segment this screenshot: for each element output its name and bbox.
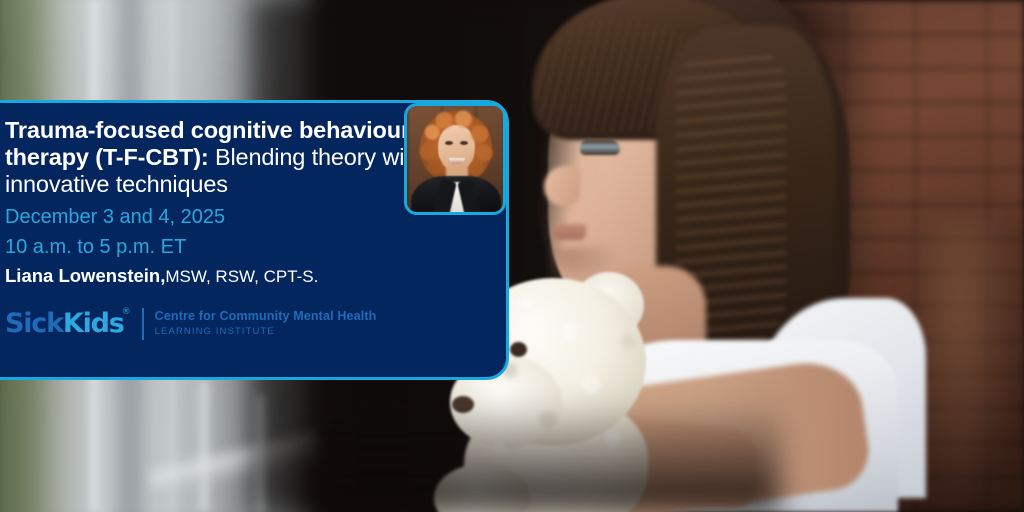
logo-institute-name: LEARNING INSTITUTE xyxy=(155,326,377,338)
presenter-line: Liana Lowenstein,MSW, RSW, CPT-S. xyxy=(5,264,493,289)
window-frame-bar xyxy=(196,380,212,512)
sickkids-wordmark: SickKids® xyxy=(5,310,124,337)
presenter-credentials: MSW, RSW, CPT-S. xyxy=(165,267,318,286)
sickkids-logo[interactable]: SickKids® Centre for Community Mental He… xyxy=(5,308,493,340)
logo-word-sick: Sick xyxy=(5,308,63,339)
event-time: 10 a.m. to 5 p.m. ET xyxy=(5,234,493,261)
girl-eye xyxy=(580,140,620,155)
background-furniture xyxy=(918,220,1024,512)
registered-trademark-icon: ® xyxy=(122,308,131,317)
girl-lips xyxy=(552,224,586,240)
foreground-shadow xyxy=(300,400,780,512)
girl-nose xyxy=(544,166,580,206)
teddy-bear-eye xyxy=(510,342,527,357)
logo-word-kids: Kids xyxy=(63,308,124,339)
headshot-curly-hair-texture xyxy=(419,110,493,184)
presenter-headshot xyxy=(404,103,506,215)
presenter-name: Liana Lowenstein, xyxy=(5,265,165,286)
logo-centre-name: Centre for Community Mental Health xyxy=(155,309,377,325)
logo-divider xyxy=(142,308,144,340)
logo-subtitle-block: Centre for Community Mental Health LEARN… xyxy=(155,309,377,339)
promotional-banner: Trauma-focused cognitive behavioural the… xyxy=(0,0,1024,512)
